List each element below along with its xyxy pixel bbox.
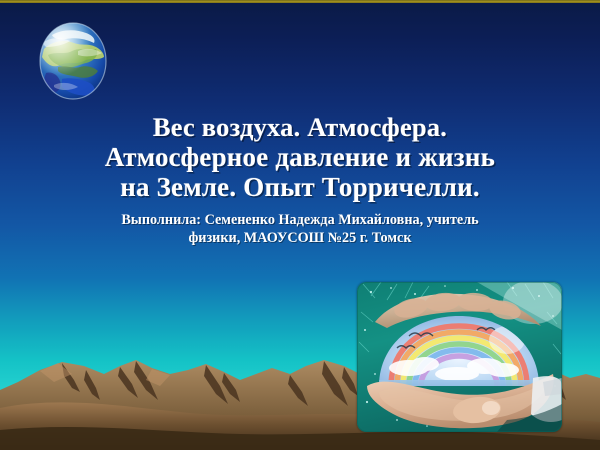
earth-globe-icon: [38, 21, 108, 101]
presentation-slide: Вес воздуха. Атмосфера. Атмосферное давл…: [0, 0, 600, 450]
slide-title: Вес воздуха. Атмосфера. Атмосферное давл…: [0, 112, 600, 202]
hands-holding-rainbow-sky-photo: [357, 282, 562, 432]
gold-rule: [0, 0, 600, 3]
title-line-2: Атмосферное давление и жизнь: [0, 142, 600, 172]
subtitle-line-1: Выполнила: Семененко Надежда Михайловна,…: [0, 211, 600, 229]
title-line-1: Вес воздуха. Атмосфера.: [0, 112, 600, 142]
slide-subtitle: Выполнила: Семененко Надежда Михайловна,…: [0, 211, 600, 247]
subtitle-line-2: физики, МАОУСОШ №25 г. Томск: [0, 229, 600, 247]
title-line-3: на Земле. Опыт Торричелли.: [0, 172, 600, 202]
